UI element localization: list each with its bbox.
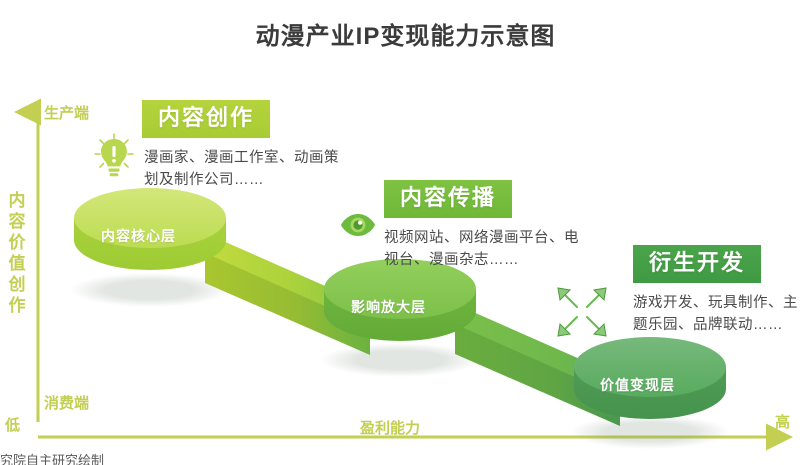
infographic-canvas: 动漫产业IP变现能力示意图 内容价值创作 生产端 消费端 低 盈利能力 高 (0, 0, 811, 465)
stage-1-description: 漫画家、漫画工作室、动画策划及制作公司…… (144, 147, 349, 191)
cylinder-2-label: 影响放大层 (351, 297, 426, 317)
eye-icon (340, 212, 376, 238)
expand-arrows-icon (555, 285, 609, 339)
stage-1-callout: 内容创作 漫画家、漫画工作室、动画策划及制作公司…… (142, 100, 349, 191)
cylinder-3-label: 价值变现层 (600, 375, 675, 395)
lightbulb-icon (91, 131, 137, 181)
stage-1-badge: 内容创作 (142, 100, 270, 138)
stage-2-badge: 内容传播 (384, 180, 512, 218)
cylinder-1-label: 内容核心层 (101, 226, 176, 246)
source-footnote: 究院自主研究绘制 (0, 450, 104, 465)
stage-2-callout: 内容传播 视频网站、网络漫画平台、电视台、漫画杂志…… (384, 180, 589, 271)
stage-2-description: 视频网站、网络漫画平台、电视台、漫画杂志…… (384, 227, 589, 271)
stage-3-badge: 衍生开发 (633, 245, 761, 283)
stage-3-callout: 衍生开发 游戏开发、玩具制作、主题乐园、品牌联动…… (633, 245, 811, 336)
stage-3-description: 游戏开发、玩具制作、主题乐园、品牌联动…… (633, 292, 811, 336)
